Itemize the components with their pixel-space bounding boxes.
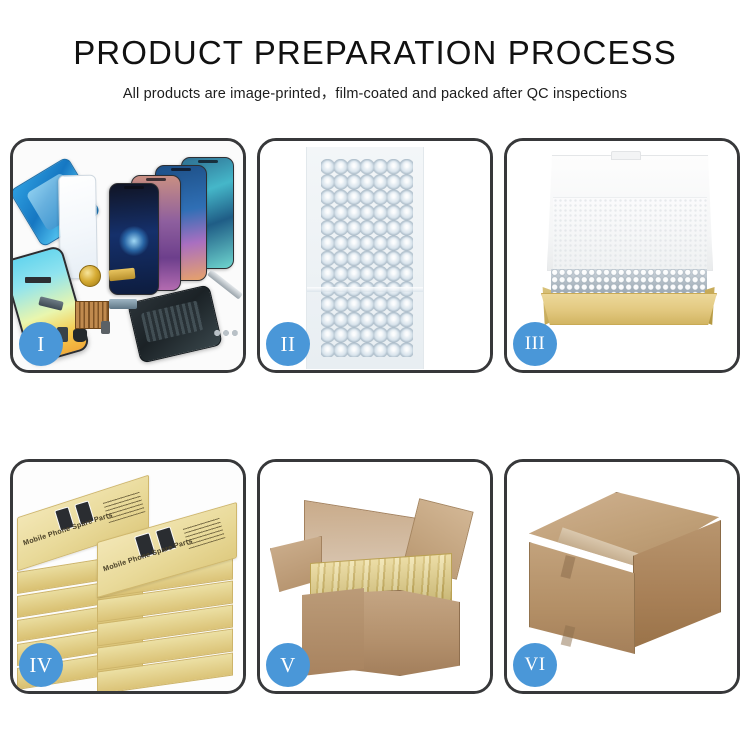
foam-sheet-icon	[553, 197, 707, 271]
flex-cable-grey-icon	[109, 299, 137, 309]
step-badge-2: II	[266, 322, 310, 366]
page-title: PRODUCT PREPARATION PROCESS	[0, 36, 750, 71]
product-preparation-infographic: PRODUCT PREPARATION PROCESS All products…	[0, 0, 750, 750]
step-badge-1: I	[19, 322, 63, 366]
step-badge-3: III	[513, 322, 557, 366]
bubble-wrapped-contents-icon	[551, 269, 707, 297]
process-step-panel-4: Mobile Phone Spare Parts Mobile Phone Sp…	[10, 459, 246, 694]
carton-left-face-icon	[302, 588, 364, 676]
step-badge-5: V	[266, 643, 310, 687]
step-badge-4: IV	[19, 643, 63, 687]
bubble-wrap-pouch-icon	[306, 147, 424, 369]
wireless-coil-icon	[79, 265, 101, 287]
header: PRODUCT PREPARATION PROCESS All products…	[0, 0, 750, 103]
step-badge-6: VI	[513, 643, 557, 687]
process-step-panel-5: V	[257, 459, 493, 694]
box-lid-tab-icon	[611, 151, 641, 160]
chip-part-icon	[25, 277, 51, 283]
small-part-b-icon	[73, 329, 87, 342]
page-subtitle: All products are image-printed，film-coat…	[0, 82, 750, 103]
process-step-panel-1: I	[10, 138, 246, 373]
process-step-panel-2: II	[257, 138, 493, 373]
process-step-panel-6: VI	[504, 459, 740, 694]
process-step-grid: I II II	[10, 138, 740, 694]
bubble-grid	[321, 159, 413, 357]
small-part-c-icon	[101, 321, 110, 334]
pouch-seam	[307, 287, 423, 292]
box-front-panel-icon	[541, 293, 717, 325]
screws-icon	[213, 327, 239, 339]
process-step-panel-3: III	[504, 138, 740, 373]
